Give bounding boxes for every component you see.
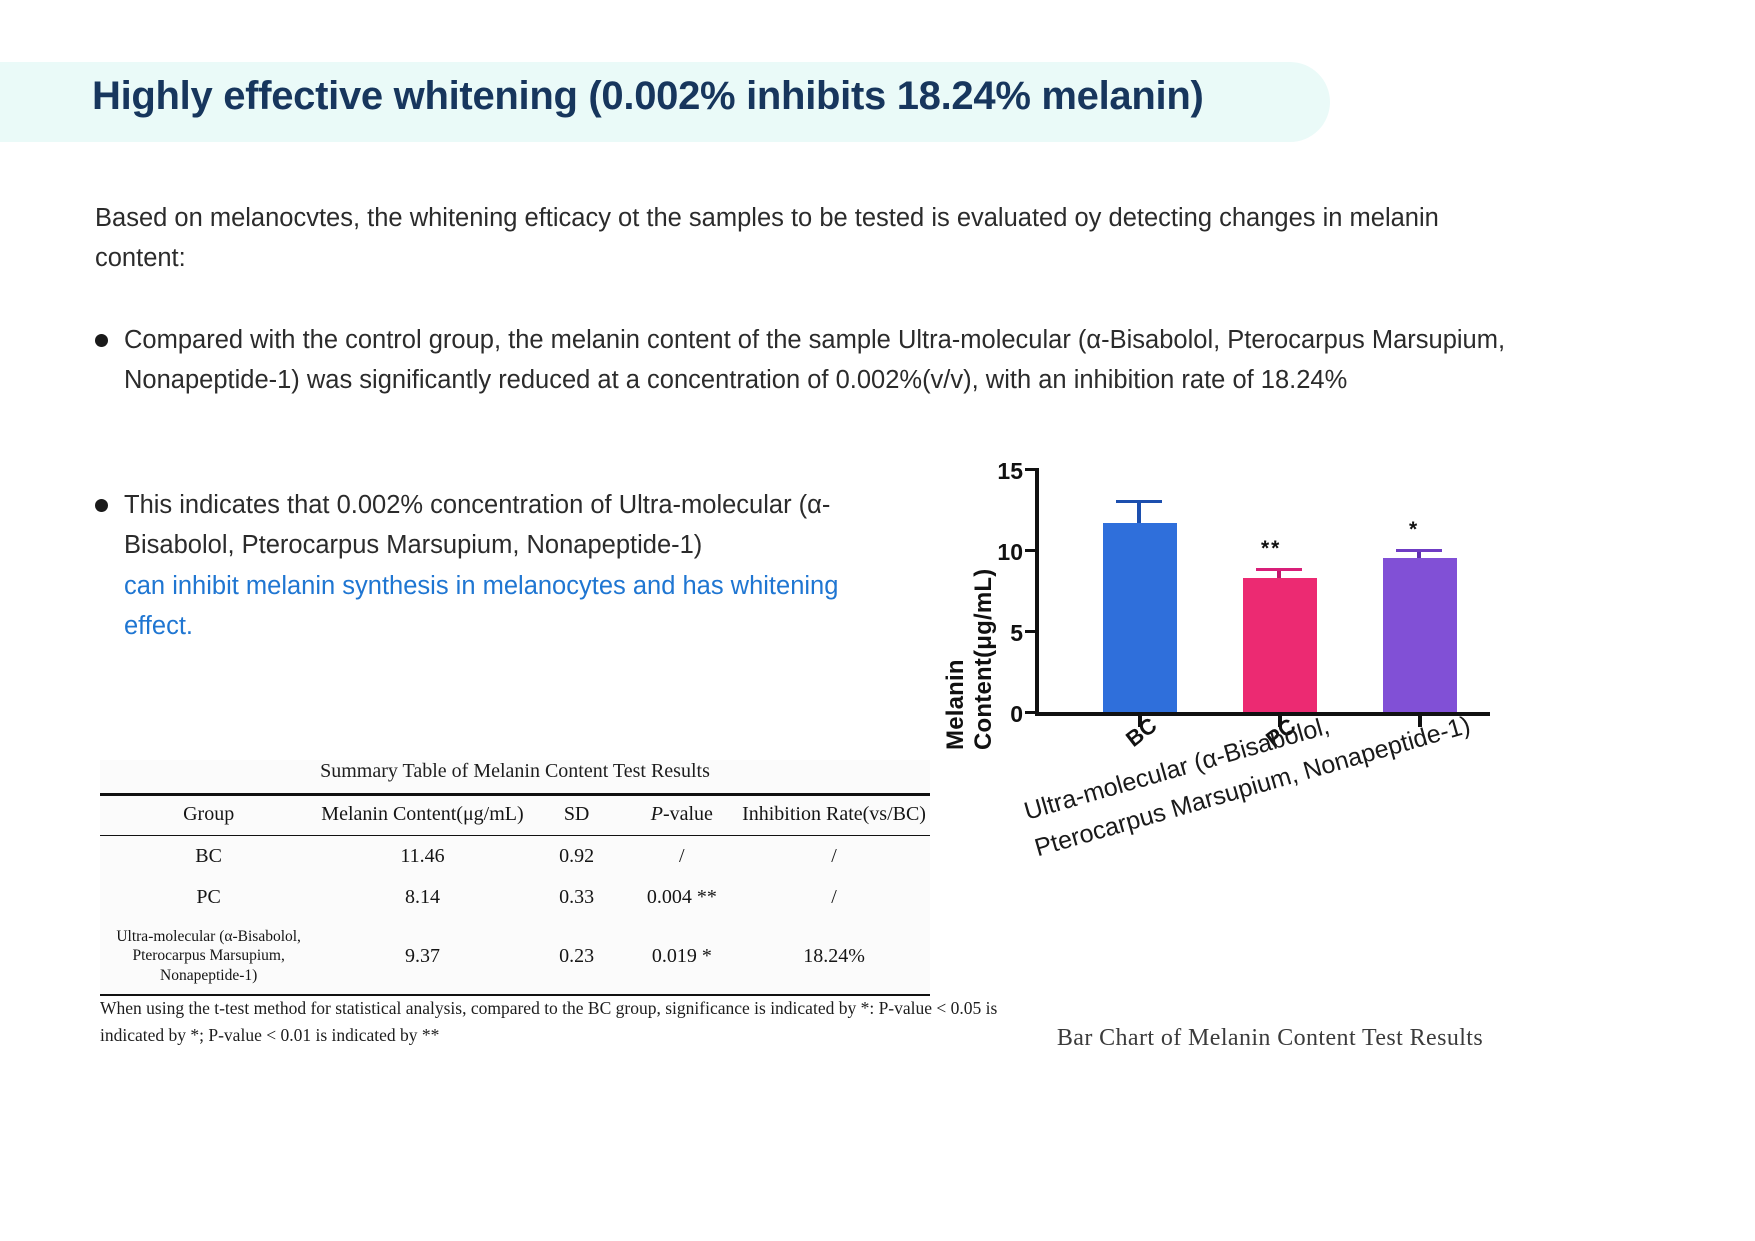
cell-content: 11.46: [317, 836, 527, 878]
chart-caption: Bar Chart of Melanin Content Test Result…: [1020, 1025, 1520, 1052]
table-header-row: Group Melanin Content(μg/mL) SD P-value …: [100, 795, 930, 836]
cell-sd: 0.23: [528, 918, 626, 995]
y-tick-label-15: 15: [975, 458, 1023, 485]
y-axis-line: [1035, 468, 1039, 716]
cell-p: /: [626, 836, 739, 878]
cell-group: PC: [100, 877, 317, 918]
cell-p: 0.019 *: [626, 918, 739, 995]
col-melanin-content: Melanin Content(μg/mL): [317, 795, 527, 836]
summary-table: Group Melanin Content(μg/mL) SD P-value …: [100, 793, 930, 996]
cell-sd: 0.92: [528, 836, 626, 878]
col-p-value: P-value: [626, 795, 739, 836]
cell-p: 0.004 **: [626, 877, 739, 918]
y-tick-0: [1025, 711, 1037, 715]
cell-rate: /: [738, 836, 930, 878]
page-title: Highly effective whitening (0.002% inhib…: [92, 74, 1203, 119]
cell-content: 8.14: [317, 877, 527, 918]
bar-pc: [1243, 578, 1317, 712]
y-tick-label-10: 10: [975, 539, 1023, 566]
summary-table-block: Summary Table of Melanin Content Test Re…: [100, 760, 930, 996]
cell-rate: /: [738, 877, 930, 918]
bullet-2-highlight: can inhibit melanin synthesis in melanoc…: [124, 566, 895, 647]
table-row: Ultra-molecular (α-Bisabolol, Pterocarpu…: [100, 918, 930, 995]
col-inhibition-rate: Inhibition Rate(vs/BC): [738, 795, 930, 836]
intro-paragraph: Based on melanocvtes, the whitening efti…: [95, 198, 1515, 279]
table-row: PC 8.14 0.33 0.004 ** /: [100, 877, 930, 918]
bullet-1-text: Compared with the control group, the mel…: [124, 320, 1515, 401]
cell-group: Ultra-molecular (α-Bisabolol, Pterocarpu…: [100, 918, 317, 995]
slide-root: Highly effective whitening (0.002% inhib…: [0, 0, 1755, 1241]
cell-group: BC: [100, 836, 317, 878]
y-tick-label-5: 5: [975, 620, 1023, 647]
bullet-2-text: This indicates that 0.002% concentration…: [124, 485, 895, 646]
col-sd: SD: [528, 795, 626, 836]
y-tick-label-0: 0: [975, 701, 1023, 728]
table-row: BC 11.46 0.92 / /: [100, 836, 930, 878]
x-tick-label-bc: BC: [1121, 712, 1162, 752]
bullet-item-2: This indicates that 0.002% concentration…: [95, 485, 895, 646]
summary-table-title: Summary Table of Melanin Content Test Re…: [100, 760, 930, 793]
error-stem-bc: [1137, 501, 1141, 523]
significance-marker-ultra-molecular: *: [1409, 518, 1419, 542]
bullet-dot-icon: [95, 499, 108, 512]
cell-rate: 18.24%: [738, 918, 930, 995]
col-group: Group: [100, 795, 317, 836]
y-tick-5: [1025, 630, 1037, 634]
significance-marker-pc: **: [1261, 537, 1281, 561]
error-cap-pc: [1256, 568, 1302, 572]
y-tick-15: [1025, 468, 1037, 472]
bullet-2-plain: This indicates that 0.002% concentration…: [124, 491, 830, 559]
bullet-item-1: Compared with the control group, the mel…: [95, 320, 1515, 401]
table-footnote: When using the t-test method for statist…: [100, 995, 1000, 1049]
bar-bc: [1103, 523, 1177, 712]
bullet-dot-icon: [95, 334, 108, 347]
error-cap-ultra-molecular: [1396, 549, 1442, 553]
cell-sd: 0.33: [528, 877, 626, 918]
y-tick-10: [1025, 549, 1037, 553]
cell-content: 9.37: [317, 918, 527, 995]
error-cap-bc: [1116, 500, 1162, 504]
